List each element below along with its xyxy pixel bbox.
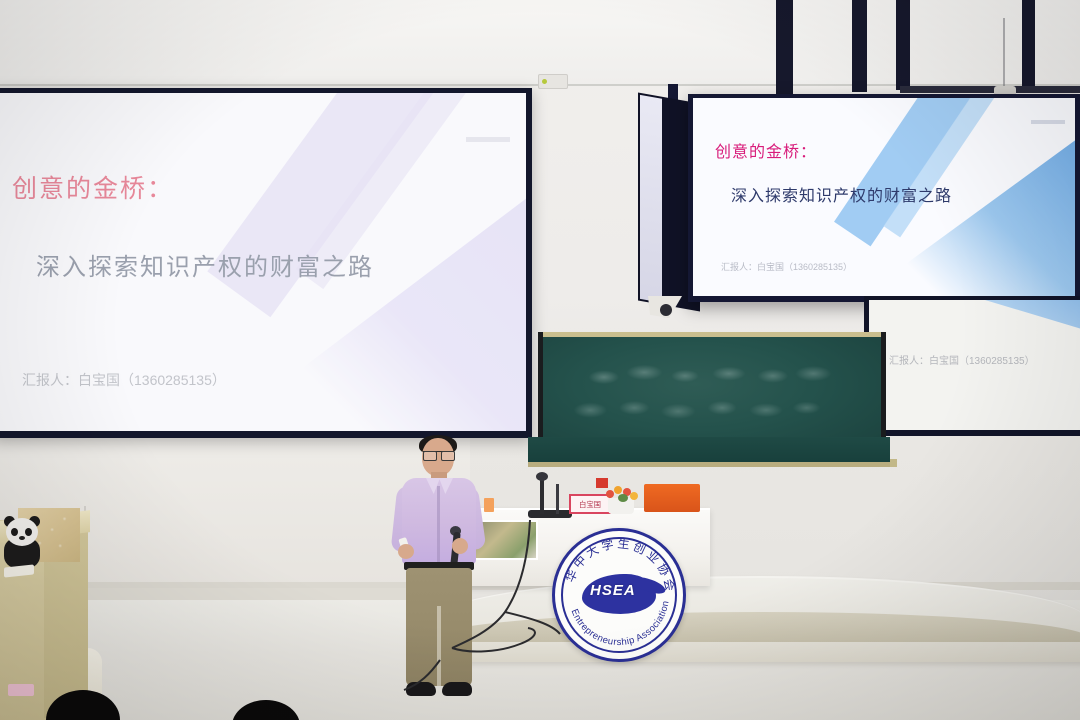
hanging-cable <box>1003 18 1005 90</box>
right-tv-display[interactable]: 创意的金桥： 深入探索知识产权的财富之路 汇报人：白宝国（1360285135） <box>688 94 1080 302</box>
emblem-chinese-text: 华中大学生创业协会 <box>563 536 678 595</box>
presenter-shoe <box>442 682 472 696</box>
flower-bloom <box>630 492 638 500</box>
flower-bloom <box>606 490 614 498</box>
ceiling-beam <box>852 0 867 92</box>
ceiling-beam <box>1022 0 1035 90</box>
slide-subtitle: 深入探索知识产权的财富之路 <box>36 247 374 282</box>
ceiling-rail <box>900 86 1080 93</box>
panda-eye <box>25 528 32 536</box>
presenter-shoe <box>406 682 436 696</box>
slide-title: 创意的金桥： <box>715 138 817 162</box>
main-projection-screen[interactable]: 创意的金桥： 深入探索知识产权的财富之路 汇报人：白宝国（1360285135） <box>0 88 532 438</box>
orange-box <box>644 484 700 512</box>
blackboard-lower-band <box>528 437 890 467</box>
status-led-icon <box>542 79 547 84</box>
ceiling-beam <box>776 0 793 96</box>
slide-corner-mark <box>466 137 510 142</box>
slide-canvas: 创意的金桥： 深入探索知识产权的财富之路 汇报人：白宝国（1360285135） <box>0 93 526 431</box>
slide-footer: 汇报人：白宝国（1360285135） <box>889 352 1035 367</box>
lecture-hall-scene: 创意的金桥： 深入探索知识产权的财富之路 汇报人：白宝国（1360285135）… <box>0 0 1080 720</box>
microphone-head-icon <box>536 472 548 481</box>
microphone-base <box>528 510 572 518</box>
slide-corner-mark <box>1031 120 1065 124</box>
slide-title: 创意的金桥： <box>12 169 174 205</box>
presenter-hand-right <box>452 538 468 554</box>
presenter <box>386 438 494 700</box>
trouser-leg-gap <box>437 606 441 686</box>
flower-bloom <box>614 486 622 494</box>
panda-nose <box>19 536 25 540</box>
flower-vase <box>598 482 644 514</box>
slide-canvas: 汇报人：白宝国（1360285135） <box>869 300 1080 430</box>
wall-sensor-box <box>538 74 568 89</box>
slide-subtitle: 深入探索知识产权的财富之路 <box>731 182 952 206</box>
right-lower-screen[interactable]: 汇报人：白宝国（1360285135） <box>864 296 1080 436</box>
slide-canvas: 创意的金桥： 深入探索知识产权的财富之路 汇报人：白宝国（1360285135） <box>693 98 1075 296</box>
slide-footer: 汇报人：白宝国（1360285135） <box>721 260 852 273</box>
panda-plush-toy <box>0 516 44 572</box>
association-emblem: HSEA 华中大学生创业协会 Entrepreneurship Associat… <box>552 528 686 662</box>
microphone-stand <box>540 478 544 514</box>
glasses-lens <box>441 451 455 461</box>
glasses-lens <box>423 451 437 461</box>
presenter-hand-left <box>398 544 414 559</box>
panda-eye <box>11 528 18 536</box>
slide-footer: 汇报人：白宝国（1360285135） <box>22 370 226 390</box>
projector-lens-icon <box>660 304 672 316</box>
emblem-text-rings: 华中大学生创业协会 Entrepreneurship Association <box>552 528 686 662</box>
ceiling-beam <box>896 0 910 90</box>
lectern-pink-item <box>8 684 34 696</box>
microphone-stand <box>556 484 559 514</box>
emblem-english-text: Entrepreneurship Association <box>569 600 672 648</box>
flower-leaf <box>618 494 628 502</box>
shirt-placket <box>437 486 440 562</box>
slide-decor-triangle <box>885 300 1080 330</box>
angled-monitor-face <box>640 95 662 303</box>
